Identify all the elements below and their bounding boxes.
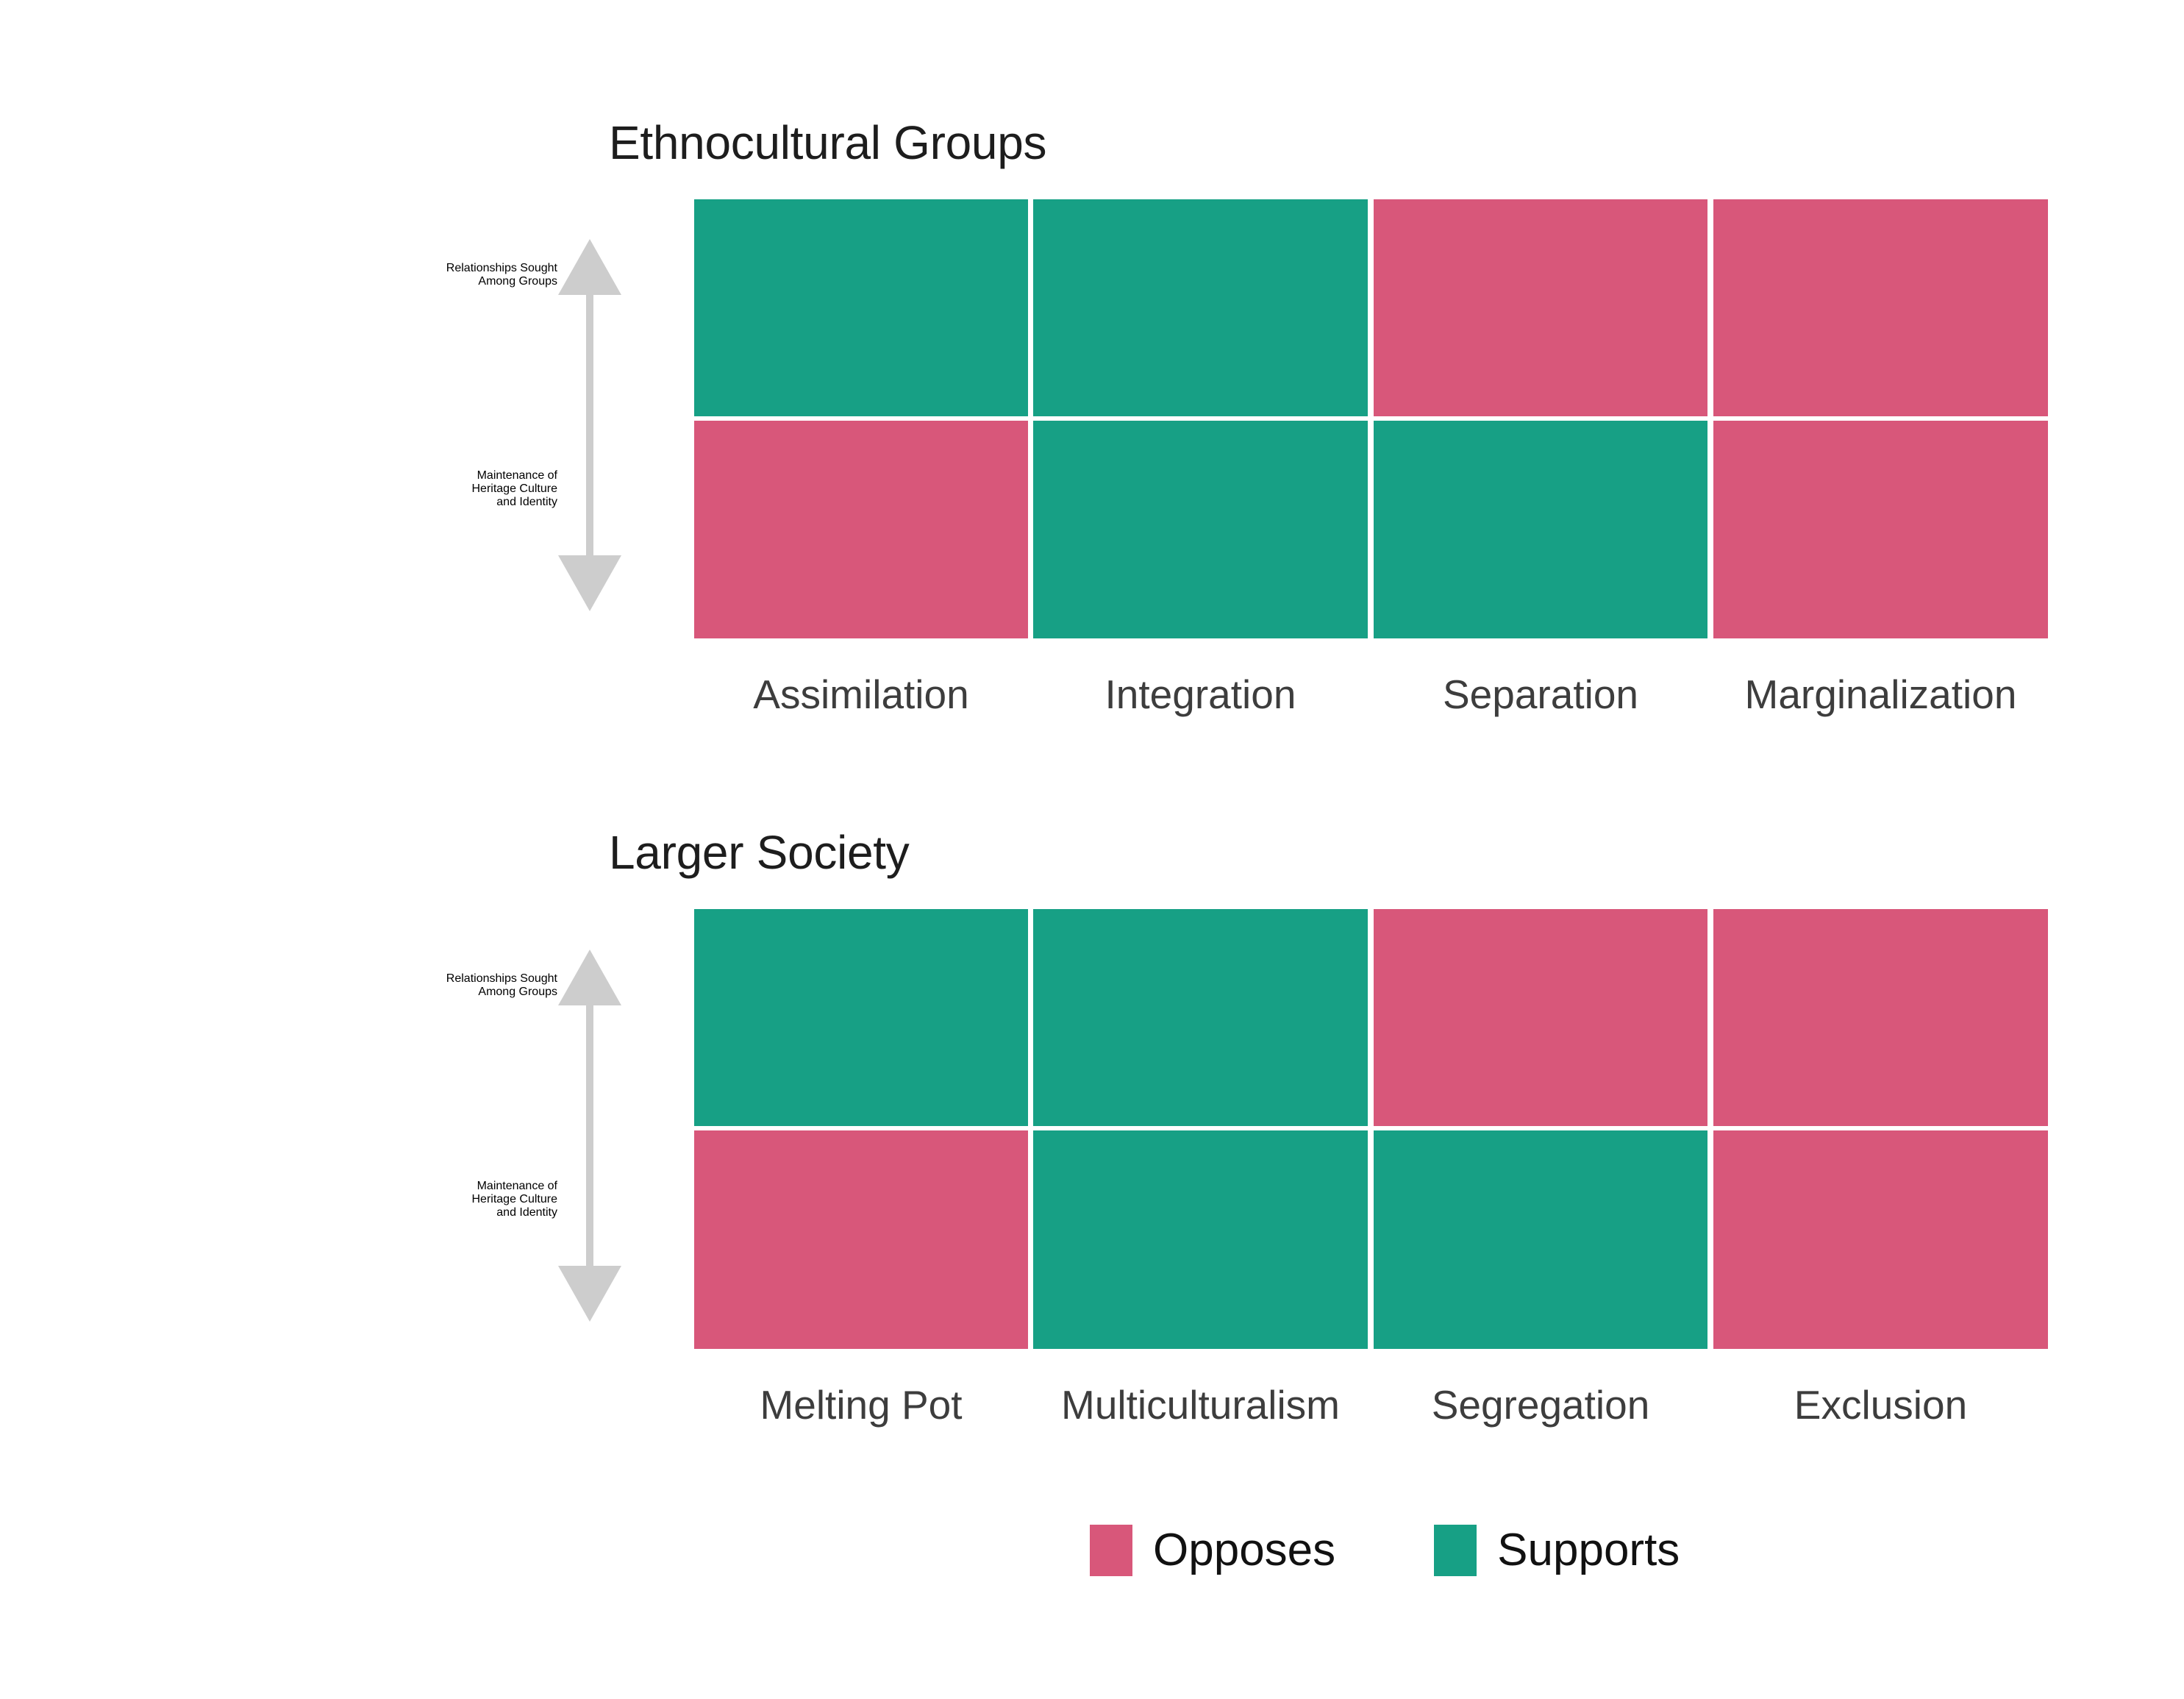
arrow-shaft xyxy=(586,1002,593,1269)
cell-r0-c3-opposes[interactable] xyxy=(1713,199,2048,416)
column-label-marginalization: Marginalization xyxy=(1713,671,2048,718)
axis-label-relationships-sought: Relationships Sought Among Groups xyxy=(87,262,557,288)
cell-r1-c1-supports[interactable] xyxy=(1033,421,1368,638)
column-label-assimilation: Assimilation xyxy=(694,671,1028,718)
axis-label-maintenance-of-heritage: Maintenance of Heritage Culture and Iden… xyxy=(87,469,557,509)
legend-swatch-supports-icon xyxy=(1434,1525,1477,1576)
arrow-up-head-icon xyxy=(558,239,621,295)
legend-item-supports[interactable]: Supports xyxy=(1434,1525,1680,1576)
axis-label-line: Maintenance of xyxy=(87,1180,557,1193)
column-label-melting-pot: Melting Pot xyxy=(694,1381,1028,1428)
arrow-up-head-icon xyxy=(558,950,621,1005)
cell-r0-c0-supports[interactable] xyxy=(694,199,1028,416)
axis-label-relationships-sought: Relationships Sought Among Groups xyxy=(87,972,557,999)
cell-r1-c2-supports[interactable] xyxy=(1374,1130,1707,1349)
double-headed-vertical-arrow-icon xyxy=(558,239,621,611)
column-label-multiculturalism: Multiculturalism xyxy=(1033,1381,1368,1428)
legend-swatch-opposes-icon xyxy=(1090,1525,1132,1576)
axis-label-line: Maintenance of xyxy=(87,469,557,482)
cell-r1-c3-opposes[interactable] xyxy=(1713,421,2048,638)
column-label-segregation: Segregation xyxy=(1374,1381,1707,1428)
cell-r1-c0-opposes[interactable] xyxy=(694,1130,1028,1349)
legend: Opposes Supports xyxy=(1090,1525,1680,1576)
arrow-down-head-icon xyxy=(558,555,621,611)
matrix-larger-society xyxy=(694,909,2048,1349)
cell-r0-c0-supports[interactable] xyxy=(694,909,1028,1126)
cell-r0-c2-opposes[interactable] xyxy=(1374,199,1707,416)
cell-r1-c2-supports[interactable] xyxy=(1374,421,1707,638)
axis-label-line: Among Groups xyxy=(87,986,557,999)
column-label-exclusion: Exclusion xyxy=(1713,1381,2048,1428)
cell-r0-c1-supports[interactable] xyxy=(1033,199,1368,416)
panel-title-ethnocultural-groups: Ethnocultural Groups xyxy=(609,116,1046,169)
cell-r1-c0-opposes[interactable] xyxy=(694,421,1028,638)
cell-r1-c1-supports[interactable] xyxy=(1033,1130,1368,1349)
axis-label-line: Heritage Culture xyxy=(87,482,557,496)
axis-label-maintenance-of-heritage: Maintenance of Heritage Culture and Iden… xyxy=(87,1180,557,1219)
arrow-shaft xyxy=(586,292,593,558)
legend-label-supports: Supports xyxy=(1497,1525,1680,1576)
legend-label-opposes: Opposes xyxy=(1153,1525,1335,1576)
arrow-down-head-icon xyxy=(558,1266,621,1322)
column-label-integration: Integration xyxy=(1033,671,1368,718)
axis-label-line: Relationships Sought xyxy=(87,972,557,986)
axis-label-line: Among Groups xyxy=(87,275,557,288)
cell-r0-c3-opposes[interactable] xyxy=(1713,909,2048,1126)
legend-item-opposes[interactable]: Opposes xyxy=(1090,1525,1335,1576)
double-headed-vertical-arrow-icon xyxy=(558,950,621,1322)
axis-label-line: Relationships Sought xyxy=(87,262,557,275)
cell-r0-c2-opposes[interactable] xyxy=(1374,909,1707,1126)
cell-r0-c1-supports[interactable] xyxy=(1033,909,1368,1126)
axis-label-line: and Identity xyxy=(87,496,557,509)
panel-title-larger-society: Larger Society xyxy=(609,826,909,879)
axis-label-line: and Identity xyxy=(87,1206,557,1219)
axis-label-line: Heritage Culture xyxy=(87,1193,557,1206)
column-label-separation: Separation xyxy=(1374,671,1707,718)
matrix-ethnocultural-groups xyxy=(694,199,2048,638)
cell-r1-c3-opposes[interactable] xyxy=(1713,1130,2048,1349)
